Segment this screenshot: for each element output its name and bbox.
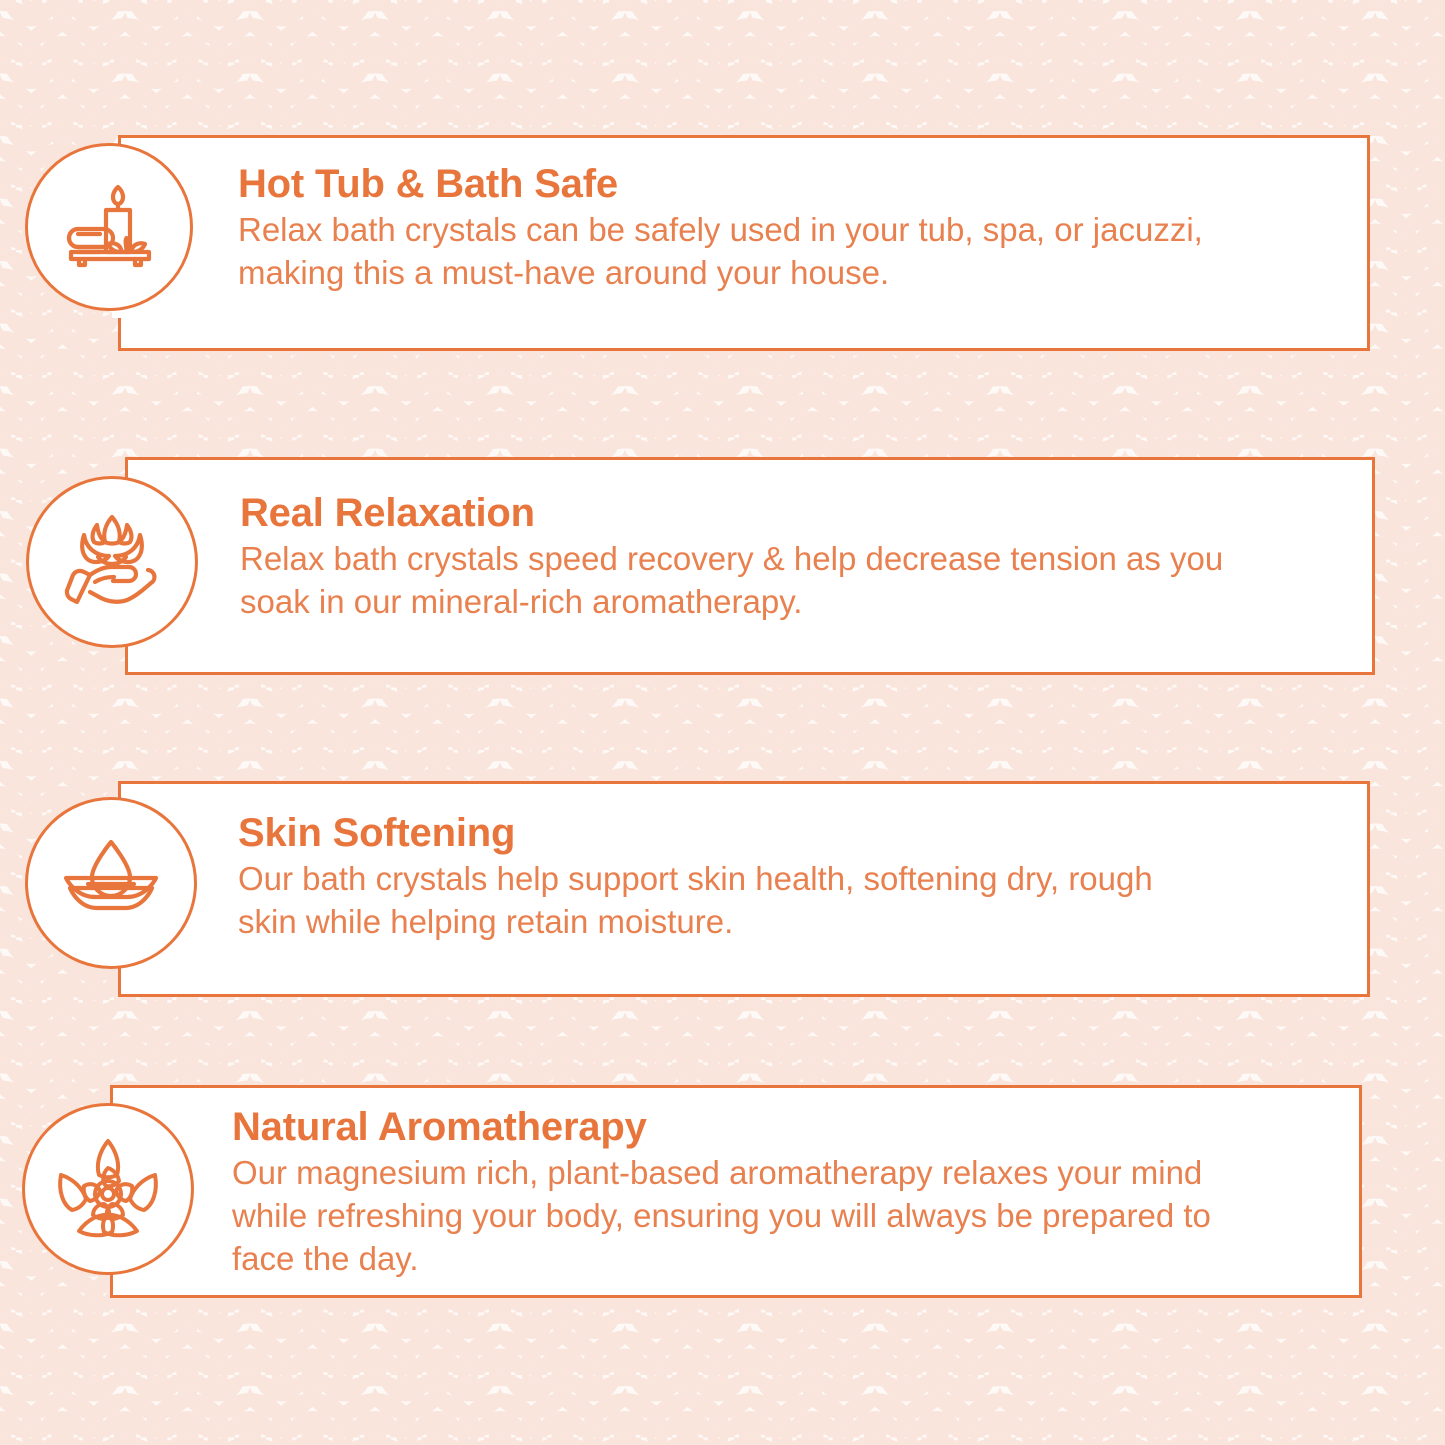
water-droplet-bowl-icon xyxy=(25,797,197,969)
feature-body: Our bath crystals help support skin heal… xyxy=(238,858,1198,944)
product-benefits-infographic: Hot Tub & Bath Safe Relax bath crystals … xyxy=(0,0,1445,1445)
feature-body: Relax bath crystals can be safely used i… xyxy=(238,209,1213,295)
feature-title: Skin Softening xyxy=(238,812,1238,854)
feature-text-real-relaxation: Real Relaxation Relax bath crystals spee… xyxy=(240,492,1320,624)
feature-text-natural-aromatherapy: Natural Aromatherapy Our magnesium rich,… xyxy=(232,1106,1292,1281)
feature-text-hot-tub-bath-safe: Hot Tub & Bath Safe Relax bath crystals … xyxy=(238,163,1238,295)
feature-title: Real Relaxation xyxy=(240,492,1320,534)
hand-holding-lotus-icon xyxy=(26,476,198,648)
feature-body: Relax bath crystals speed recovery & hel… xyxy=(240,538,1300,624)
feature-body: Our magnesium rich, plant-based aromathe… xyxy=(232,1152,1247,1281)
flower-blossom-icon xyxy=(22,1103,194,1275)
feature-title: Natural Aromatherapy xyxy=(232,1106,1292,1148)
feature-title: Hot Tub & Bath Safe xyxy=(238,163,1238,205)
feature-text-skin-softening: Skin Softening Our bath crystals help su… xyxy=(238,812,1238,944)
spa-candle-towels-icon xyxy=(25,143,193,311)
